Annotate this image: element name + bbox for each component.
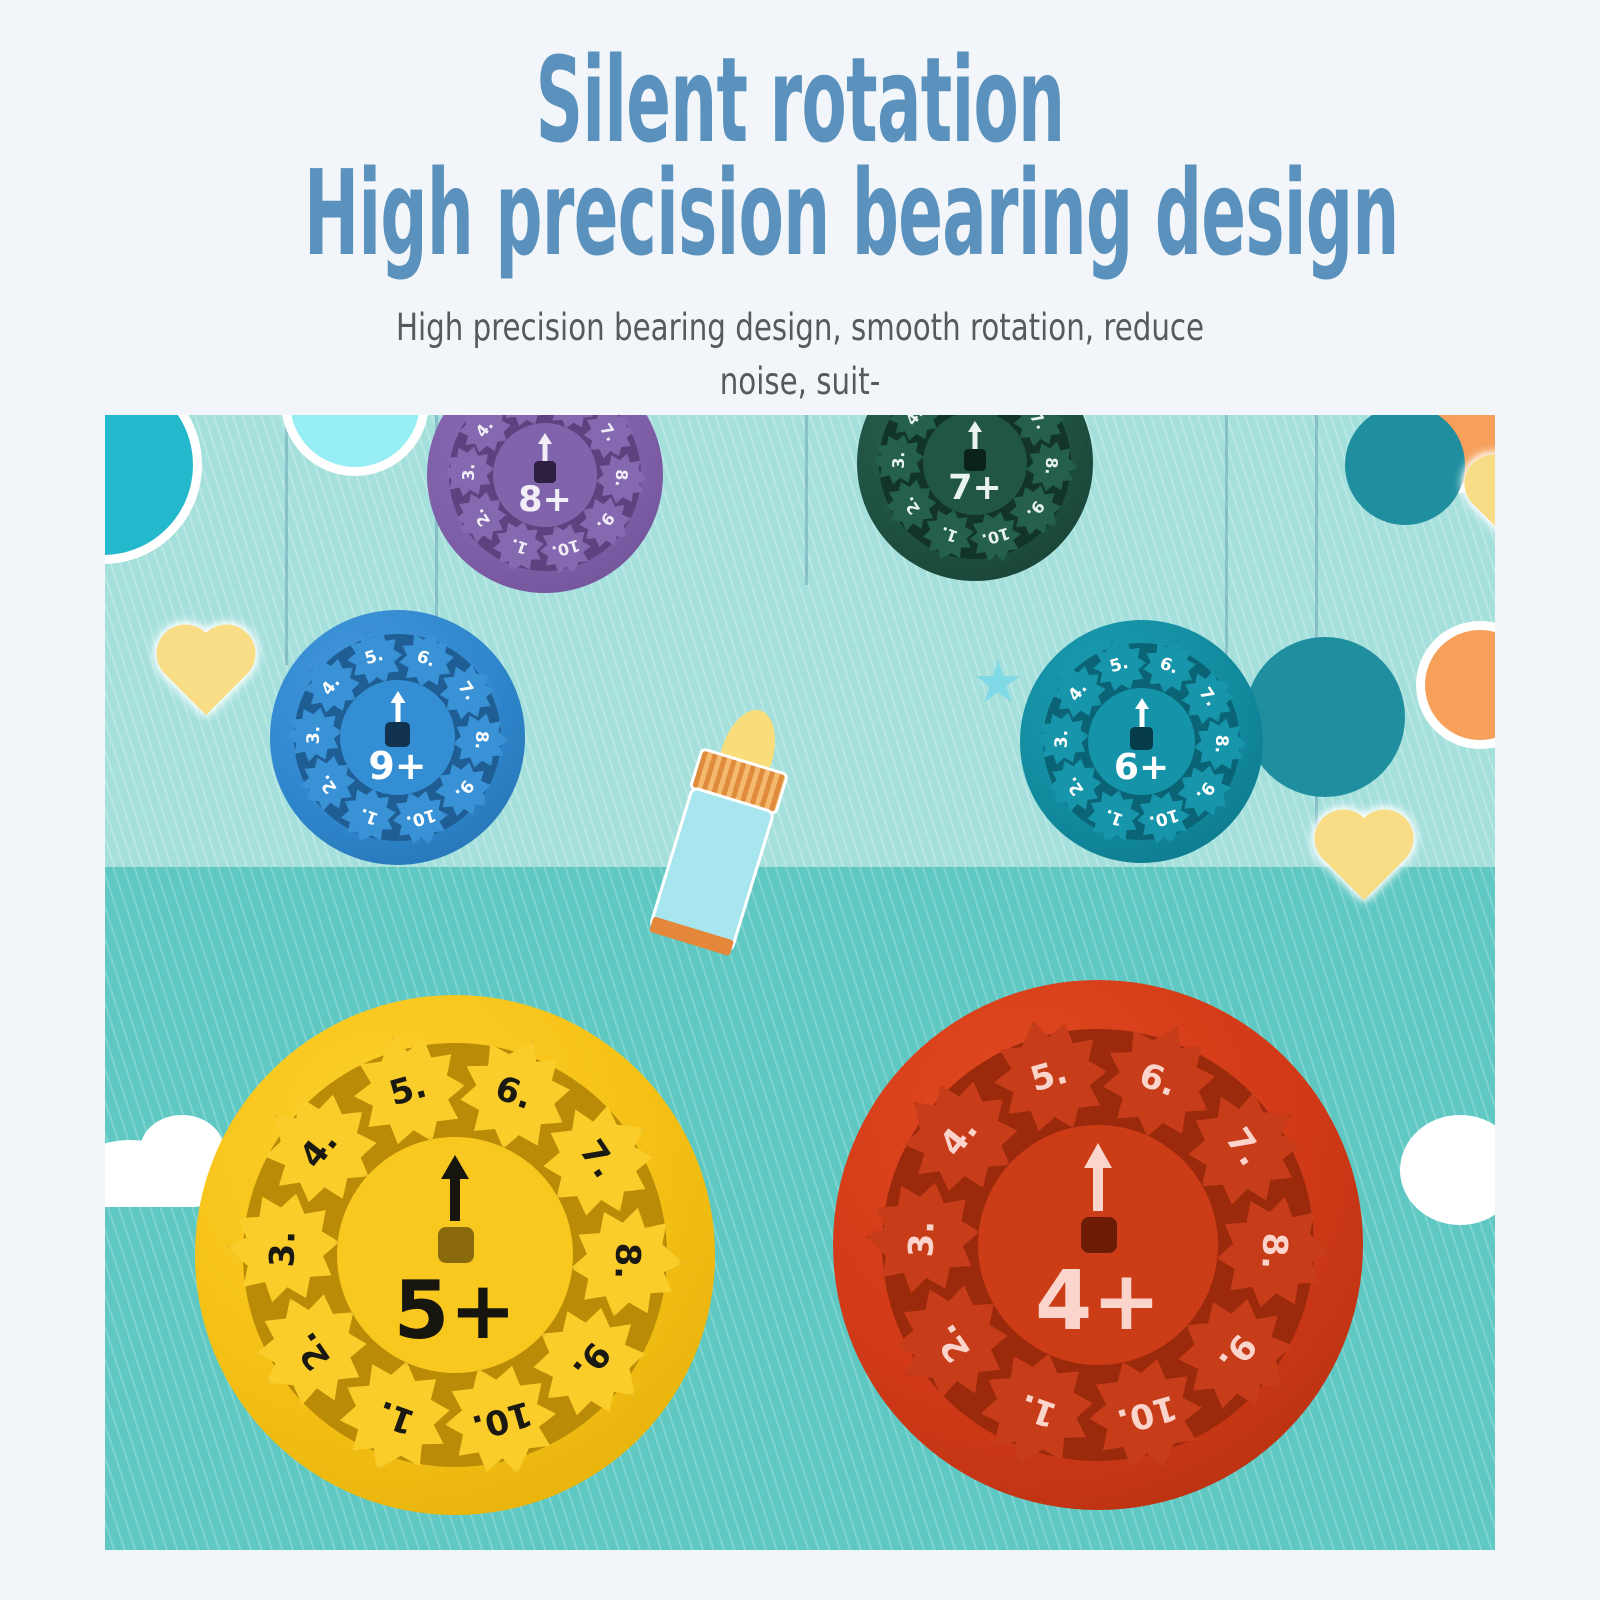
gear-number-label: 2. xyxy=(468,506,493,531)
gear-number-label: 4. xyxy=(472,415,498,440)
gear-number-label: 3. xyxy=(303,725,324,744)
gear-hub: 8+ xyxy=(493,423,597,527)
gear-number-label: 8. xyxy=(1211,735,1232,754)
gear-center-label: 8+ xyxy=(518,483,572,518)
gear-toy-red[interactable]: 4+ 1.2.3.4.5.6.7.8.9.10. xyxy=(833,980,1363,1510)
gear-hub: 4+ xyxy=(978,1125,1218,1365)
hanging-string xyxy=(805,415,808,585)
up-arrow-icon xyxy=(1082,1143,1114,1216)
gear-center-label: 4+ xyxy=(1035,1261,1161,1343)
gear-toy-yellow[interactable]: 5+ 1.2.3.4.5.6.7.8.9.10. xyxy=(195,995,715,1515)
gear-number-label: 5. xyxy=(363,645,386,669)
gear-number-label: 1. xyxy=(357,804,381,829)
gear-number-label: 8. xyxy=(1042,457,1062,475)
gear-hub: 5+ xyxy=(337,1137,573,1373)
gear-number-label: 7. xyxy=(571,1132,625,1185)
gear-number-label: 3. xyxy=(1051,729,1072,748)
gear-number-label: 3. xyxy=(458,463,478,481)
gear-number-label: 2. xyxy=(314,771,341,797)
gear-number-label: 8. xyxy=(606,1242,647,1280)
gear-number-label: 2. xyxy=(286,1325,340,1378)
gear-toy-blue[interactable]: 9+ 1.2.3.4.5.6.7.8.9.10. xyxy=(270,610,525,865)
gear-number-label: 5. xyxy=(1108,652,1131,676)
headline-line-1: Silent rotation xyxy=(304,46,1296,155)
gear-number-label: 10. xyxy=(403,804,437,832)
gear-number-label: 8. xyxy=(471,731,492,750)
gear-center-hole xyxy=(438,1227,474,1263)
gear-hub: 7+ xyxy=(923,415,1027,515)
gear-number-label: 6. xyxy=(1134,1055,1182,1105)
headline-line-2: High precision bearing design xyxy=(304,159,1296,268)
gear-hub: 6+ xyxy=(1088,688,1195,795)
gear-center-hole xyxy=(1081,1217,1117,1253)
decor-circle-deep-teal xyxy=(1245,637,1405,797)
gear-number-label: 8. xyxy=(612,469,632,487)
gear-number-label: 1. xyxy=(1014,1385,1062,1435)
gear-number-label: 2. xyxy=(1062,773,1089,799)
gear-number-label: 3. xyxy=(901,1220,942,1258)
gear-number-label: 1. xyxy=(937,523,960,547)
gear-number-label: 9. xyxy=(564,1334,618,1387)
gear-number-label: 4. xyxy=(932,1110,986,1163)
gear-number-label: 1. xyxy=(1102,804,1126,829)
gear-toy-teal[interactable]: 6+ 1.2.3.4.5.6.7.8.9.10. xyxy=(1020,620,1263,863)
gear-center-label: 7+ xyxy=(948,471,1002,506)
gear-number-label: 10. xyxy=(1112,1387,1181,1442)
decor-cloud xyxy=(105,1167,215,1207)
up-arrow-icon xyxy=(439,1155,471,1226)
gear-number-label: 4. xyxy=(318,672,345,699)
gear-number-label: 6. xyxy=(414,646,438,671)
gear-number-label: 4. xyxy=(292,1122,346,1175)
gear-number-label: 9. xyxy=(1210,1327,1264,1380)
gear-number-label: 10. xyxy=(980,524,1012,550)
gear-number-label: 5. xyxy=(1026,1052,1072,1101)
header-block: Silent rotation High precision bearing d… xyxy=(0,0,1600,462)
gear-number-label: 7. xyxy=(1194,684,1221,710)
gear-number-label: 10. xyxy=(1146,805,1180,833)
hanging-string xyxy=(285,415,288,665)
gear-number-label: 6. xyxy=(1157,654,1181,679)
gear-number-label: 7. xyxy=(454,677,481,703)
gear-number-label: 10. xyxy=(550,536,582,562)
gear-number-label: 1. xyxy=(372,1392,420,1442)
gear-number-label: 9. xyxy=(450,776,477,803)
gear-center-label: 6+ xyxy=(1114,750,1169,786)
gear-number-label: 2. xyxy=(925,1317,979,1370)
gear-number-label: 6. xyxy=(490,1068,538,1118)
gear-number-label: 3. xyxy=(888,451,908,469)
gear-number-label: 3. xyxy=(262,1230,303,1268)
gear-number-label: 7. xyxy=(1217,1120,1271,1173)
gear-number-label: 10. xyxy=(468,1393,537,1448)
gear-number-label: 9. xyxy=(1191,777,1218,804)
gear-center-label: 5+ xyxy=(394,1271,517,1351)
gear-number-label: 1. xyxy=(507,535,530,559)
gear-hub: 9+ xyxy=(340,680,455,795)
product-photo: 8+ 1.2.3.4.5.6.7.8.9.10. 7+ 1.2.3.4.5.6.… xyxy=(105,415,1495,1550)
gear-number-label: 7. xyxy=(596,419,621,444)
gear-number-label: 5. xyxy=(384,1065,430,1114)
gear-number-label: 2. xyxy=(898,494,923,519)
gear-number-label: 9. xyxy=(1023,498,1049,523)
page-title: Silent rotation High precision bearing d… xyxy=(304,46,1296,267)
gear-number-label: 9. xyxy=(593,510,619,535)
gear-number-label: 7. xyxy=(1026,415,1051,432)
gear-number-label: 8. xyxy=(1253,1232,1294,1270)
gear-center-label: 9+ xyxy=(368,747,426,785)
gear-number-label: 4. xyxy=(1065,679,1092,706)
gear-number-label: 4. xyxy=(902,415,928,428)
subtitle-line-1: High precision bearing design, smooth ro… xyxy=(369,301,1231,408)
